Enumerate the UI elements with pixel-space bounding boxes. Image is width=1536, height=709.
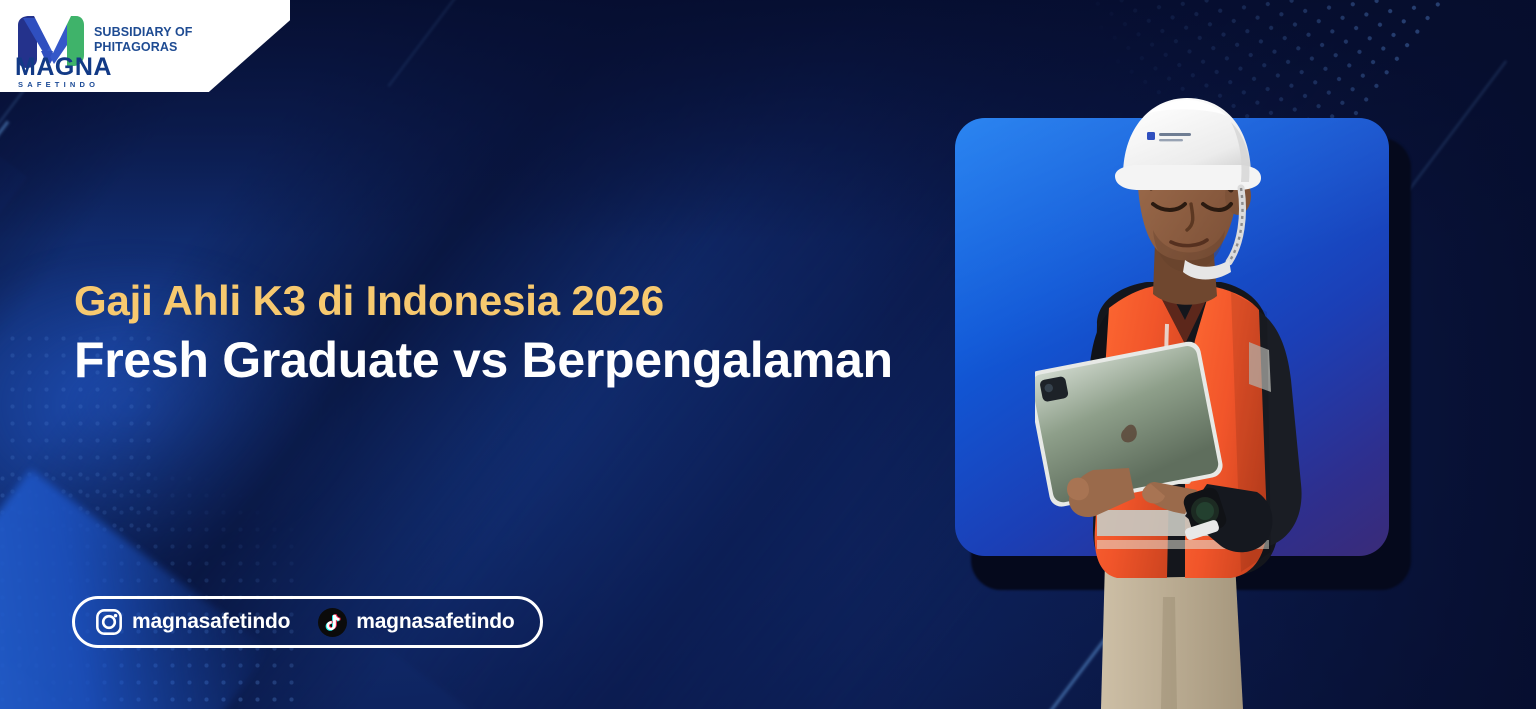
headline-block: Gaji Ahli K3 di Indonesia 2026 Fresh Gra…	[74, 276, 994, 388]
instagram-icon	[95, 608, 123, 636]
social-handles-bar[interactable]: magnasafetindo magnasafetindo	[72, 596, 543, 648]
logo-subword: SAFETINDO	[18, 80, 99, 89]
logo-wordmark: MAGNA	[15, 55, 112, 80]
logo-tagline: SUBSIDIARY OF PHITAGORAS	[94, 25, 193, 55]
headline-line-1: Gaji Ahli K3 di Indonesia 2026	[74, 276, 994, 326]
safety-officer-photo	[1035, 92, 1365, 709]
magna-m-monogram-icon: MAGNA SAFETINDO	[14, 15, 86, 77]
social-item-tiktok[interactable]: magnasafetindo	[318, 608, 514, 637]
social-item-instagram[interactable]: magnasafetindo	[95, 608, 290, 636]
tiktok-handle: magnasafetindo	[356, 610, 514, 634]
logo-block: MAGNA SAFETINDO SUBSIDIARY OF PHITAGORAS	[14, 15, 193, 77]
instagram-handle: magnasafetindo	[132, 610, 290, 634]
logo-tagline-line1: SUBSIDIARY OF	[94, 25, 193, 40]
promo-banner: MAGNA SAFETINDO SUBSIDIARY OF PHITAGORAS…	[0, 0, 1536, 709]
headline-line-2: Fresh Graduate vs Berpengalaman	[74, 332, 994, 388]
tiktok-icon	[318, 608, 347, 637]
left-hand	[1067, 478, 1089, 501]
